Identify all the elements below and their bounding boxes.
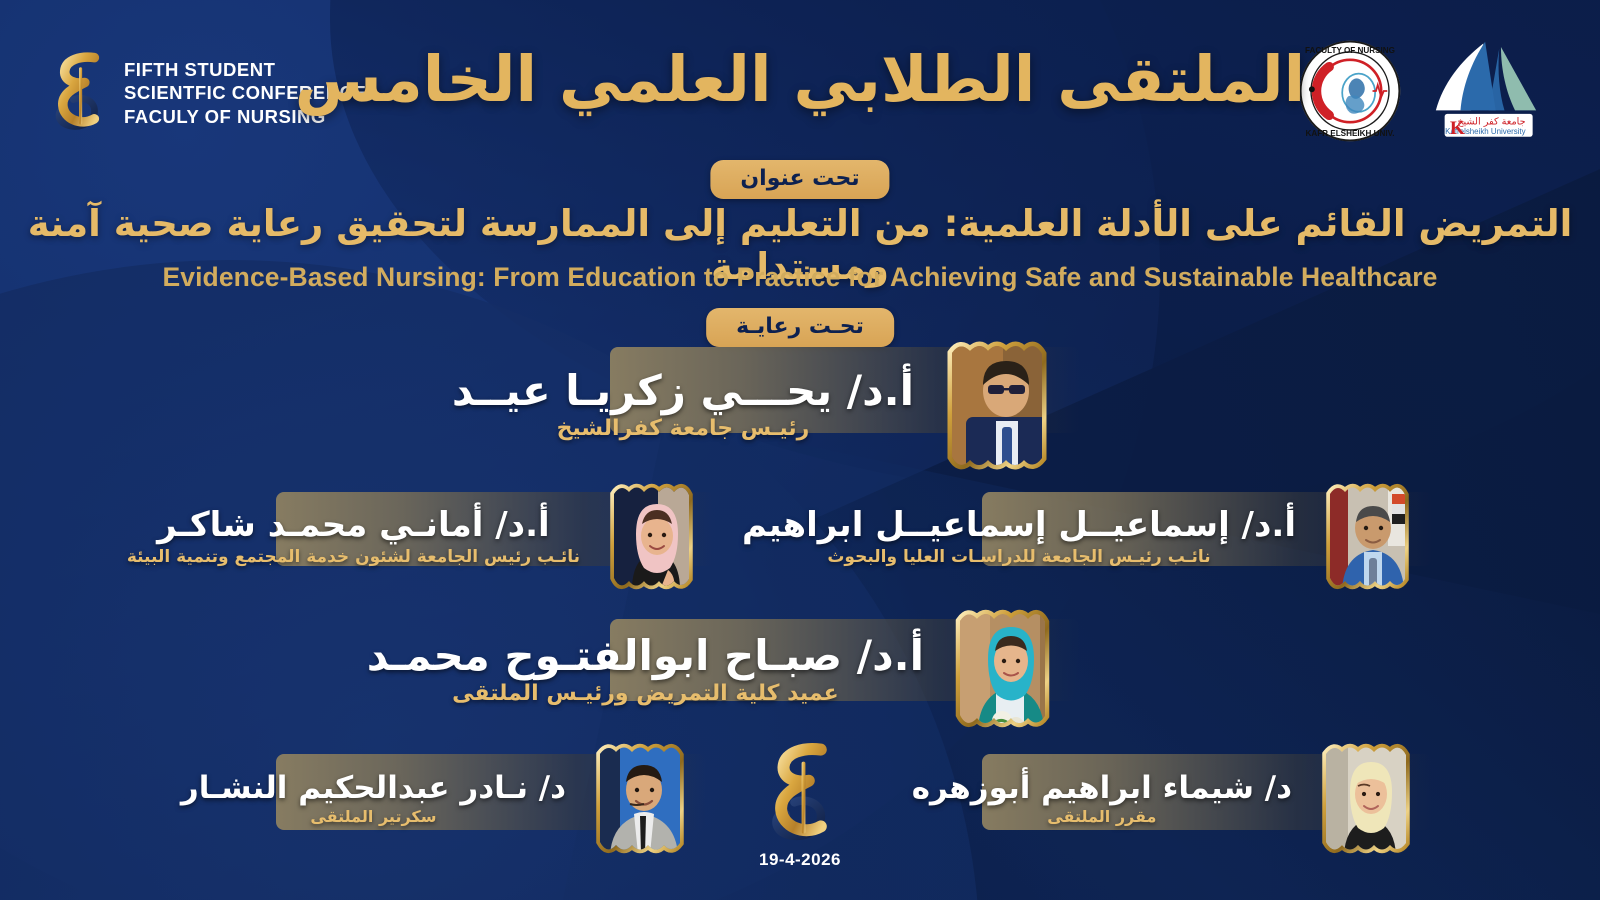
person-card-yehia-zakaria-eid: أ.د/ يحـــي زكريـا عيــد رئيـس جامعة كفر… [520, 335, 1080, 475]
person-text: أ.د/ إسماعيــل إسماعيــل ابراهيم نائـب ر… [726, 508, 1312, 566]
person-text: أ.د/ يحـــي زكريـا عيــد رئيـس جامعة كفر… [436, 369, 930, 441]
avatar-frame [596, 478, 716, 596]
person-name: أ.د/ أمانـي محمـد شاكـر [127, 508, 580, 544]
person-role: نائـب رئيس الجامعة لشئون خدمة المجتمع وت… [127, 548, 580, 567]
person-name: أ.د/ صبـاح ابوالفتـوح محمـد [367, 634, 924, 678]
badge-under-title: تحت عنوان [710, 160, 889, 199]
gold-five-caduceus-icon [759, 740, 841, 848]
footer-emblem-block: 19-4-2026 [759, 740, 841, 870]
person-role: عميد كلية التمريض ورئيـس الملتقى [367, 682, 924, 706]
poster-main-title: الملتقى الطلابي العلمي الخامس [0, 44, 1600, 116]
person-text: أ.د/ صبـاح ابوالفتـوح محمـد عميد كلية ال… [351, 634, 940, 706]
sail-logo-k-letter: K [1450, 118, 1465, 139]
person-name: أ.د/ يحـــي زكريـا عيــد [452, 369, 914, 413]
avatar-frame [1308, 738, 1432, 860]
avatar-frame [1312, 478, 1432, 596]
person-text: د/ نـادر عبدالحكيم النشـار سكرتير الملتق… [165, 772, 582, 826]
avatar-frame [582, 738, 706, 860]
person-role: سكرتير الملتقى [181, 808, 566, 826]
avatar-frame [940, 605, 1080, 735]
person-role: مقرر الملتقى [912, 808, 1292, 826]
person-card-shaimaa-ibrahim-abouzahra: د/ شيماء ابراهيم أبوزهره مقرر الملتقى [902, 738, 1432, 860]
person-card-sabah-abouelfotouh-mohamed: أ.د/ صبـاح ابوالفتـوح محمـد عميد كلية ال… [520, 605, 1080, 735]
person-card-amany-mohamed-shaker: أ.د/ أمانـي محمـد شاكـر نائـب رئيس الجام… [196, 478, 716, 596]
person-role: نائـب رئيـس الجامعة للدراسـات العليا وال… [742, 548, 1296, 567]
person-card-ismail-ismail-ibrahim: أ.د/ إسماعيــل إسماعيــل ابراهيم نائـب ر… [902, 478, 1432, 596]
conference-poster: FIFTH STUDENT SCIENTFIC CONFERENCE FACUL… [0, 0, 1600, 900]
person-name: د/ شيماء ابراهيم أبوزهره [912, 772, 1292, 805]
sail-logo-arabic-text: جامعة كفر الشيخ [1457, 116, 1525, 127]
person-role: رئيـس جامعة كفرالشيخ [452, 417, 914, 441]
person-name: أ.د/ إسماعيــل إسماعيــل ابراهيم [742, 508, 1296, 544]
event-date: 19-4-2026 [759, 850, 841, 870]
person-text: أ.د/ أمانـي محمـد شاكـر نائـب رئيس الجام… [111, 508, 596, 566]
seal-bottom-text: KAFR ELSHEIKH UNIV. [1305, 129, 1394, 138]
person-card-nader-abdelhakim-elnashar: د/ نـادر عبدالحكيم النشـار سكرتير الملتق… [196, 738, 706, 860]
avatar-frame [930, 335, 1080, 475]
person-text: د/ شيماء ابراهيم أبوزهره مقرر الملتقى [896, 772, 1308, 826]
person-name: د/ نـادر عبدالحكيم النشـار [181, 772, 566, 805]
subtitle-english: Evidence-Based Nursing: From Education t… [0, 262, 1600, 293]
